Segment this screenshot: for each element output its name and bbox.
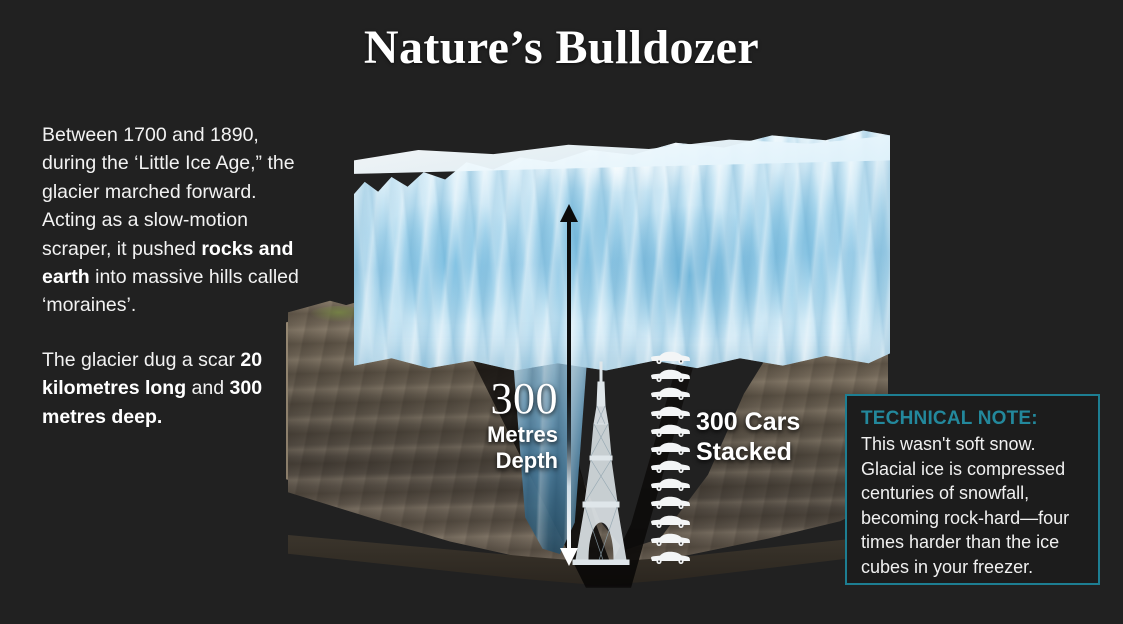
car-icon [648, 532, 692, 547]
car-icon [648, 495, 692, 510]
depth-value: 300 [462, 378, 558, 420]
depth-unit: Metres Depth [462, 422, 558, 474]
car-icon [648, 550, 692, 565]
depth-callout: 300 Metres Depth [462, 378, 558, 474]
car-icon [648, 368, 692, 383]
paragraph-little-ice-age: Between 1700 and 1890, during the ‘Littl… [42, 121, 304, 320]
cars-label-line-1: 300 Cars [696, 408, 800, 436]
technical-note-title: TECHNICAL NOTE: [861, 407, 1084, 431]
page-title: Nature’s Bulldozer [0, 20, 1123, 75]
technical-note-box: TECHNICAL NOTE: This wasn't soft snow. G… [845, 394, 1100, 585]
left-description-block: Between 1700 and 1890, during the ‘Littl… [42, 121, 304, 431]
car-icon [648, 459, 692, 474]
technical-note-body: This wasn't soft snow. Glacial ice is co… [861, 432, 1084, 579]
car-icon [648, 441, 692, 456]
car-icon [648, 350, 692, 365]
car-icon [648, 386, 692, 401]
eiffel-tower-icon [570, 360, 632, 565]
car-icon [648, 405, 692, 420]
depth-unit-line-2: Depth [496, 448, 558, 473]
paragraph-scar-dimensions: The glacier dug a scar 20 kilometres lon… [42, 346, 304, 431]
body-text: The glacier dug a scar [42, 349, 240, 371]
depth-unit-line-1: Metres [487, 422, 558, 447]
glacier-cross-section-illustration: 300 Metres Depth [276, 120, 916, 590]
car-stack-icons [648, 350, 692, 565]
infographic-canvas: Nature’s Bulldozer Between 1700 and 1890… [0, 0, 1123, 624]
body-text: and [186, 377, 229, 399]
car-icon [648, 514, 692, 529]
cars-callout: 300 Cars Stacked [696, 407, 800, 467]
cars-label-line-2: Stacked [696, 438, 792, 466]
car-icon [648, 423, 692, 438]
car-icon [648, 477, 692, 492]
